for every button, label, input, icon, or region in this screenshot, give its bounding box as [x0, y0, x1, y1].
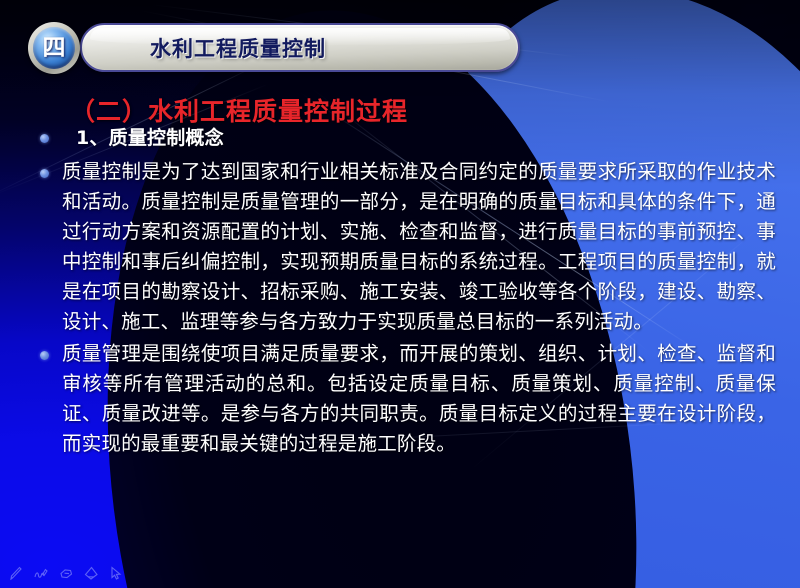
section-number-badge: 四 [28, 22, 80, 74]
paragraph-text: 质量控制是为了达到国家和行业相关标准及合同约定的质量要求所采取的作业技术和活动。… [62, 162, 776, 333]
paragraph-text: 质量管理是围绕使项目满足质量要求，而开展的策划、组织、计划、检查、监督和审核等所… [62, 344, 776, 455]
section-number-label: 四 [43, 37, 66, 60]
section-number-badge-inner: 四 [33, 27, 75, 69]
list-item: 质量控制是为了达到国家和行业相关标准及合同约定的质量要求所采取的作业技术和活动。… [36, 158, 776, 338]
section-heading: （二）水利工程质量控制过程 [70, 92, 408, 128]
dot-bullet-icon [40, 351, 49, 360]
annotation-toolbar[interactable] [8, 565, 125, 582]
pointer-icon[interactable] [108, 565, 125, 582]
pen-icon[interactable] [8, 565, 25, 582]
marker-icon[interactable] [33, 565, 50, 582]
dot-bullet-icon [40, 169, 49, 178]
list-item: 1、质量控制概念 [36, 124, 776, 152]
slide-header: 水利工程质量控制 四 [28, 22, 520, 74]
highlighter-icon[interactable] [58, 565, 75, 582]
list-item: 质量管理是围绕使项目满足质量要求，而开展的策划、组织、计划、检查、监督和审核等所… [36, 340, 776, 460]
slide-body: 1、质量控制概念 质量控制是为了达到国家和行业相关标准及合同约定的质量要求所采取… [36, 124, 776, 462]
eraser-icon[interactable] [83, 565, 100, 582]
page-title: 水利工程质量控制 [150, 33, 326, 63]
list-item-label: 1、质量控制概念 [76, 127, 224, 149]
dot-bullet-icon [40, 134, 49, 143]
presentation-slide: 水利工程质量控制 四 （二）水利工程质量控制过程 1、质量控制概念 质量控制是为… [0, 0, 800, 588]
